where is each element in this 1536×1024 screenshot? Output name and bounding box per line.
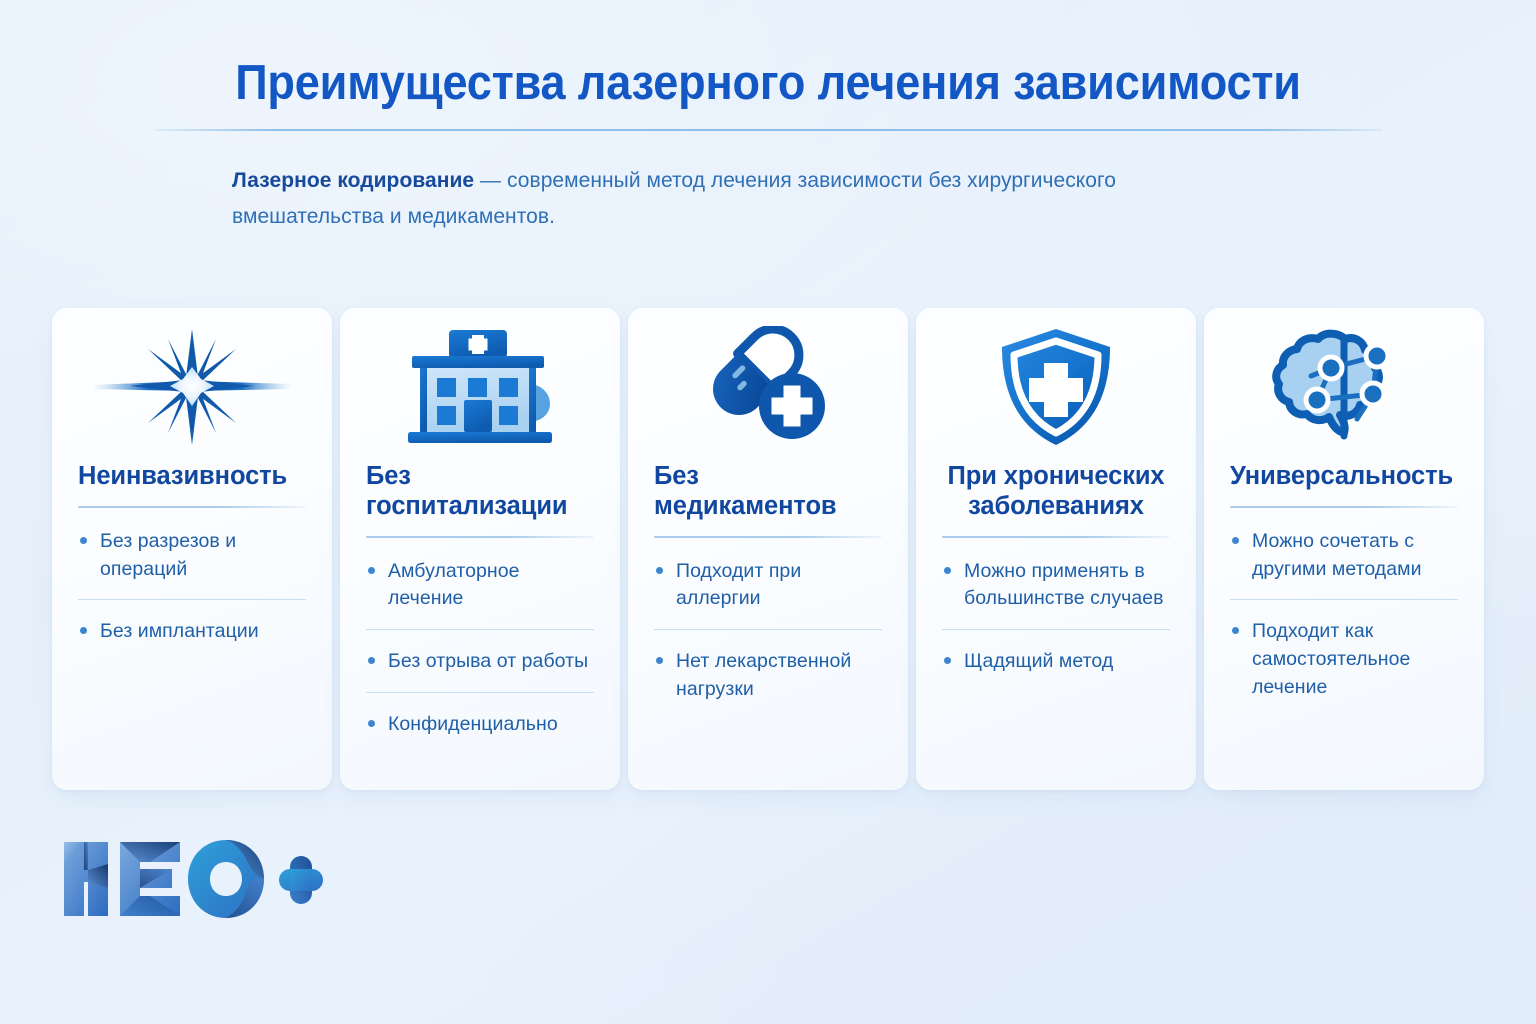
- subtitle: Лазерное кодирование — современный метод…: [232, 163, 1132, 235]
- bullet-item: Без отрыва от работы: [366, 629, 594, 692]
- bullet-item: Можно применять в большинстве случаев: [942, 538, 1170, 629]
- bullet-item: Подходит при аллергии: [654, 538, 882, 629]
- bullet-item: Амбулаторное лечение: [366, 538, 594, 629]
- card-bullets: Можно применять в большинстве случаев Ща…: [942, 538, 1170, 692]
- card-title: Без госпитализации: [366, 462, 594, 522]
- bullet-item: Без имплантации: [78, 599, 306, 662]
- card-title: При хронических заболеваниях: [942, 462, 1170, 522]
- pill-capsule-cross-icon: [654, 308, 882, 462]
- heo-plus-logo: [58, 836, 326, 922]
- bullet-item: Подходит как самостоятельное лечение: [1230, 599, 1458, 717]
- card-title: Неинвазивность: [78, 462, 306, 492]
- header: Преимущества лазерного лечения зависимос…: [0, 0, 1536, 131]
- card-universalnost: Универсальность Можно сочетать с другими…: [1204, 308, 1484, 790]
- card-bez-gospitalizacii: Без госпитализации Амбулаторное лечение …: [340, 308, 620, 790]
- card-bullets: Амбулаторное лечение Без отрыва от работ…: [366, 538, 594, 755]
- title-divider: [154, 129, 1382, 131]
- card-bullets: Без разрезов и операций Без имплантации: [78, 508, 306, 662]
- subtitle-lead: Лазерное кодирование: [232, 169, 474, 192]
- card-title: Универсальность: [1230, 462, 1458, 492]
- card-bullets: Можно сочетать с другими методами Подход…: [1230, 508, 1458, 717]
- bullet-item: Без разрезов и операций: [78, 508, 306, 599]
- hospital-building-icon: [366, 308, 594, 462]
- card-bez-medikamentov: Без медикаментов Подходит при аллергии Н…: [628, 308, 908, 790]
- card-bullets: Подходит при аллергии Нет лекарственной …: [654, 538, 882, 720]
- card-title: Без медикаментов: [654, 462, 882, 522]
- subtitle-dash: —: [474, 169, 507, 192]
- laser-burst-icon: [78, 308, 306, 462]
- bullet-item: Нет лекарственной нагрузки: [654, 629, 882, 719]
- bullet-item: Можно сочетать с другими методами: [1230, 508, 1458, 599]
- shield-cross-icon: [942, 308, 1170, 462]
- benefit-cards: Неинвазивность Без разрезов и операций Б…: [52, 308, 1484, 790]
- card-pri-hronicheskih: При хронических заболеваниях Можно приме…: [916, 308, 1196, 790]
- page-title: Преимущества лазерного лечения зависимос…: [61, 58, 1474, 110]
- brain-network-icon: [1230, 308, 1458, 462]
- infographic-page: Преимущества лазерного лечения зависимос…: [0, 0, 1536, 1024]
- card-neinvazivnost: Неинвазивность Без разрезов и операций Б…: [52, 308, 332, 790]
- bullet-item: Щадящий метод: [942, 629, 1170, 692]
- bullet-item: Конфиденциально: [366, 692, 594, 755]
